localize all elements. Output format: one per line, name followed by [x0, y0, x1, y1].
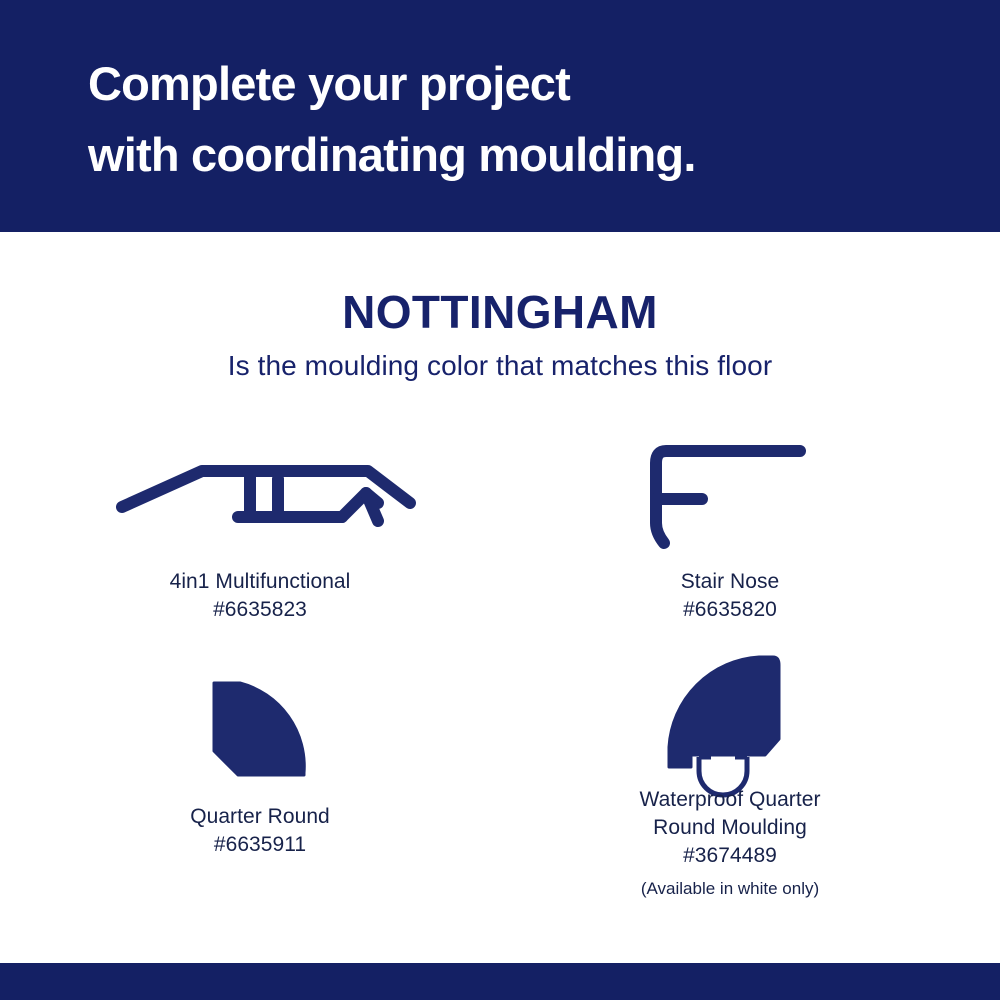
product-name: Quarter Round	[190, 805, 330, 828]
product-sku: #3674489	[510, 842, 950, 870]
product-caption: Quarter Round #6635911	[40, 803, 480, 859]
moulding-promo-page: Complete your project with coordinating …	[0, 0, 1000, 1000]
product-availability-note: (Available in white only)	[510, 878, 950, 900]
header-headline-line-1: Complete your project	[88, 48, 960, 119]
product-card-stair-nose[interactable]: Stair Nose #6635820	[510, 430, 950, 624]
product-card-waterproof-quarter-round[interactable]: Waterproof Quarter Round Moulding #36744…	[510, 648, 950, 900]
product-caption: Stair Nose #6635820	[510, 568, 950, 624]
product-name: Stair Nose	[681, 570, 780, 593]
stair-nose-profile-icon	[510, 430, 950, 560]
product-name-line-2: Round Moulding	[653, 816, 807, 839]
product-name: 4in1 Multifunctional	[170, 570, 351, 593]
color-title-block: NOTTINGHAM Is the moulding color that ma…	[0, 288, 1000, 382]
header-text-block: Complete your project with coordinating …	[88, 48, 960, 191]
product-card-4in1-multifunctional[interactable]: 4in1 Multifunctional #6635823	[40, 430, 480, 624]
product-sku: #6635823	[40, 596, 480, 624]
quarter-round-profile-icon	[40, 665, 480, 795]
product-caption: Waterproof Quarter Round Moulding #36744…	[510, 786, 950, 870]
moulding-product-grid: 4in1 Multifunctional #6635823 Stair Nose	[0, 430, 1000, 930]
product-name-line-1: Waterproof Quarter	[639, 788, 820, 811]
page-title: NOTTINGHAM	[0, 288, 1000, 337]
waterproof-quarter-round-profile-icon	[510, 648, 950, 778]
product-card-quarter-round[interactable]: Quarter Round #6635911	[40, 665, 480, 859]
product-sku: #6635820	[510, 596, 950, 624]
product-caption: 4in1 Multifunctional #6635823	[40, 568, 480, 624]
four-in-one-multifunctional-profile-icon	[40, 430, 480, 560]
footer-banner	[0, 963, 1000, 1000]
header-banner: Complete your project with coordinating …	[0, 0, 1000, 232]
header-headline-line-2: with coordinating moulding.	[88, 119, 960, 190]
product-sku: #6635911	[40, 831, 480, 859]
page-subtitle: Is the moulding color that matches this …	[0, 351, 1000, 382]
